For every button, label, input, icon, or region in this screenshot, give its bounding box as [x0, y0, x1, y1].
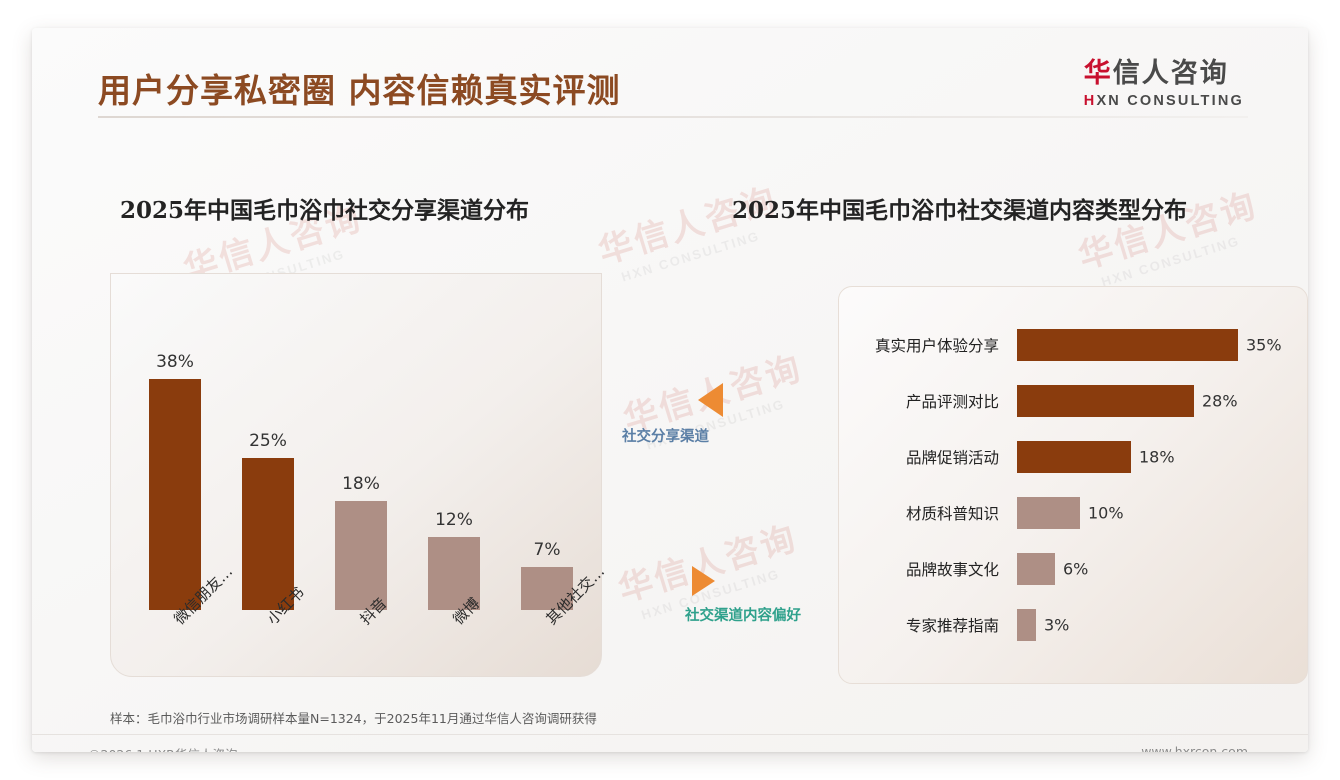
slide-header: 用户分享私密圈 内容信赖真实评测 华信人咨询 HXN CONSULTING [32, 28, 1308, 136]
table-row: 专家推荐指南3% [839, 605, 1307, 645]
bar-group: 25% [242, 458, 294, 610]
watermark: 华信人咨询 HXN CONSULTING [592, 172, 788, 288]
watermark-en: HXN CONSULTING [1100, 225, 1268, 289]
logo-chinese-rest: 信人咨询 [1113, 58, 1229, 89]
brand-logo: 华信人咨询 HXN CONSULTING [1084, 60, 1244, 109]
bar[interactable] [1017, 609, 1036, 641]
bar-category-label: 专家推荐指南 [839, 614, 999, 636]
bar[interactable] [242, 458, 294, 610]
table-row: 真实用户体验分享35% [839, 325, 1307, 365]
bar-value-label: 25% [198, 431, 338, 451]
table-row: 品牌故事文化6% [839, 549, 1307, 589]
left-chart-title: 2025年中国毛巾浴巾社交分享渠道分布 [120, 191, 529, 225]
table-row: 材质科普知识10% [839, 493, 1307, 533]
logo-english: HXN CONSULTING [1084, 93, 1244, 109]
table-row: 品牌促销活动18% [839, 437, 1307, 477]
bar-value-label: 6% [1063, 560, 1088, 579]
sample-note: 样本：毛巾浴巾行业市场调研样本量N=1324，于2025年11月通过华信人咨询调… [110, 708, 597, 727]
bar-value-label: 18% [1139, 448, 1175, 467]
bar[interactable] [1017, 441, 1131, 473]
bar-value-label: 10% [1088, 504, 1124, 523]
bar-group: 18% [335, 501, 387, 610]
table-row: 产品评测对比28% [839, 381, 1307, 421]
bar[interactable] [149, 379, 201, 610]
bar-value-label: 38% [105, 352, 245, 372]
annotation-content-preference: 社交渠道内容偏好 [690, 566, 801, 625]
bar-value-label: 18% [291, 474, 431, 494]
vertical-bar-plot: 38%微信朋友…25%小红书18%抖音12%微博7%其他社交… [111, 274, 601, 676]
left-chart-panel: 38%微信朋友…25%小红书18%抖音12%微博7%其他社交… [110, 273, 602, 677]
bar[interactable] [1017, 329, 1238, 361]
bar-category-label: 材质科普知识 [839, 502, 999, 524]
right-chart-panel: 真实用户体验分享35%产品评测对比28%品牌促销活动18%材质科普知识10%品牌… [838, 286, 1308, 684]
annotation-content-preference-label: 社交渠道内容偏好 [685, 604, 801, 625]
title-divider [98, 116, 1248, 118]
copyright-text: ©2026.1 HXR华信人咨询 [88, 744, 237, 752]
slide-canvas: 用户分享私密圈 内容信赖真实评测 华信人咨询 HXN CONSULTING 华信… [32, 28, 1308, 752]
bar-value-label: 7% [477, 540, 617, 560]
bar[interactable] [1017, 385, 1194, 417]
bar-value-label: 12% [384, 510, 524, 530]
triangle-right-icon [692, 566, 715, 596]
right-chart-title: 2025年中国毛巾浴巾社交渠道内容类型分布 [732, 191, 1187, 225]
annotation-social-channel: 社交分享渠道 [690, 383, 723, 446]
website-link[interactable]: www.hxrcon.com [1141, 744, 1248, 752]
bar-category-label: 品牌故事文化 [839, 558, 999, 580]
horizontal-bar-plot: 真实用户体验分享35%产品评测对比28%品牌促销活动18%材质科普知识10%品牌… [839, 287, 1307, 683]
bar[interactable] [335, 501, 387, 610]
logo-chinese-accent: 华 [1084, 58, 1113, 89]
logo-english-rest: XN CONSULTING [1096, 93, 1244, 109]
bar-category-label: 品牌促销活动 [839, 446, 999, 468]
bar-group: 38% [149, 379, 201, 610]
page-title: 用户分享私密圈 内容信赖真实评测 [98, 64, 621, 112]
triangle-left-icon [698, 383, 723, 417]
bar-category-label: 产品评测对比 [839, 390, 999, 412]
logo-english-accent: H [1084, 93, 1097, 109]
annotation-social-channel-label: 社交分享渠道 [622, 425, 723, 446]
watermark-en: HXN CONSULTING [620, 220, 788, 284]
bar-category-label: 真实用户体验分享 [839, 334, 999, 356]
footer-divider [32, 734, 1308, 735]
bar[interactable] [1017, 497, 1080, 529]
bar-value-label: 35% [1246, 336, 1282, 355]
logo-chinese: 华信人咨询 [1084, 60, 1244, 88]
bar-value-label: 28% [1202, 392, 1238, 411]
bar[interactable] [1017, 553, 1055, 585]
bar-value-label: 3% [1044, 616, 1069, 635]
